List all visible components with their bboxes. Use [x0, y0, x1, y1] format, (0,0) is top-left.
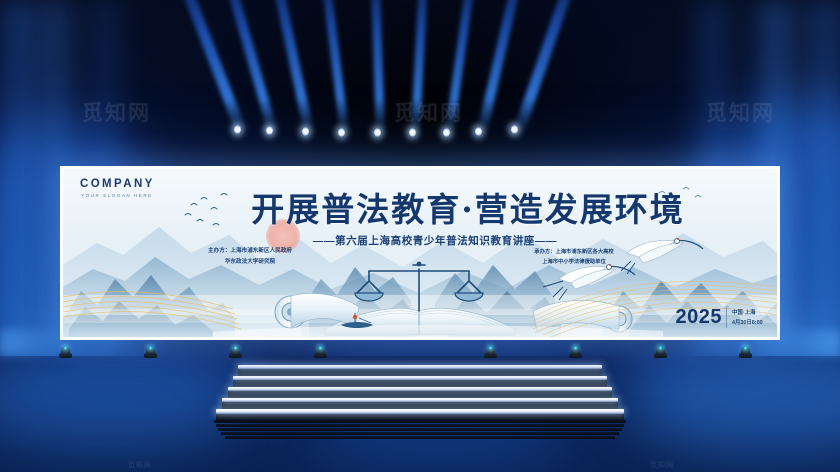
- step-light: [222, 398, 618, 402]
- spotlight-dot: [302, 127, 309, 136]
- step-base: [216, 424, 624, 427]
- step-light: [238, 365, 602, 369]
- step-base: [218, 428, 622, 431]
- banner-organizer: 主办方：上海市浦东新区人民政府 华东政法大学研究院: [175, 246, 325, 267]
- spotlight-dot: [374, 128, 381, 137]
- step-light: [228, 387, 612, 391]
- banner-event-meta: 中国·上海 4月30日8:00: [726, 308, 766, 328]
- edge-light-spill: [0, 330, 70, 356]
- organizer-line-1: 主办方：上海市浦东新区人民政府: [175, 246, 325, 257]
- banner-artwork: COMPANY YOUR SLOGAN HERE 开展普法教育·营造发展环境 —…: [63, 169, 777, 337]
- banner-year: 2025: [676, 306, 723, 329]
- spotlight-beam: [369, 0, 385, 132]
- light-lens-icon: [743, 346, 748, 350]
- stage-scene: 觅知网 觅知网 觅知网 觅知网 觅知网: [0, 0, 840, 472]
- watermark: 觅知网: [82, 97, 151, 127]
- banner-subtitle: ——第六届上海高校青少年普法知识教育讲座——: [63, 233, 777, 248]
- stage-steps: [0, 352, 840, 472]
- step-riser: [238, 368, 602, 376]
- step-base: [214, 420, 626, 423]
- stage-banner[interactable]: COMPANY YOUR SLOGAN HERE 开展普法教育·营造发展环境 —…: [60, 166, 780, 340]
- watermark: 觅知网: [394, 97, 463, 127]
- moving-head-light: [653, 345, 668, 358]
- banner-title: 开展普法教育·营造发展环境: [63, 183, 777, 231]
- spotlight-beam: [317, 0, 349, 133]
- light-lens-icon: [573, 346, 578, 350]
- spotlight-dot: [443, 128, 450, 137]
- watermark: 觅知网: [706, 97, 775, 127]
- spotlight-beam: [513, 0, 589, 134]
- event-datetime: 4月30日8:00: [732, 318, 766, 328]
- moving-head-light: [738, 345, 753, 358]
- step-riser: [222, 401, 618, 409]
- spotlight-dot: [475, 127, 482, 136]
- spotlight-dot: [234, 125, 241, 134]
- banner-co-organizer: 承办方：上海市浦东新区各大高校 上海市中小学法律援助单位: [499, 247, 649, 267]
- light-lens-icon: [318, 346, 323, 350]
- step-base: [221, 432, 619, 435]
- moving-head-light: [568, 345, 583, 358]
- step-riser: [228, 390, 612, 398]
- organizer-line-2: 华东政法大学研究院: [175, 257, 325, 268]
- spotlight-beam: [164, 0, 247, 134]
- light-lens-icon: [658, 346, 663, 350]
- spotlight-dot: [511, 125, 518, 134]
- moving-head-light: [313, 345, 328, 358]
- spotlight-dot: [338, 128, 345, 137]
- event-location: 中国·上海: [732, 308, 766, 318]
- step-light: [216, 409, 624, 414]
- spotlight-beam: [214, 0, 278, 133]
- step-light: [233, 376, 607, 380]
- spotlight-dot: [409, 128, 416, 137]
- moving-head-light: [483, 345, 498, 358]
- co-organizer-line-1: 承办方：上海市浦东新区各大高校: [499, 247, 649, 257]
- light-lens-icon: [148, 346, 153, 350]
- light-lens-icon: [488, 346, 493, 350]
- edge-light-spill: [770, 330, 840, 356]
- moving-head-light: [143, 345, 158, 358]
- moving-head-light: [228, 345, 243, 358]
- light-lens-icon: [233, 346, 238, 350]
- spotlight-dot: [266, 126, 273, 135]
- step-riser: [233, 379, 607, 387]
- co-organizer-line-2: 上海市中小学法律援助单位: [499, 257, 649, 267]
- step-base: [225, 436, 615, 439]
